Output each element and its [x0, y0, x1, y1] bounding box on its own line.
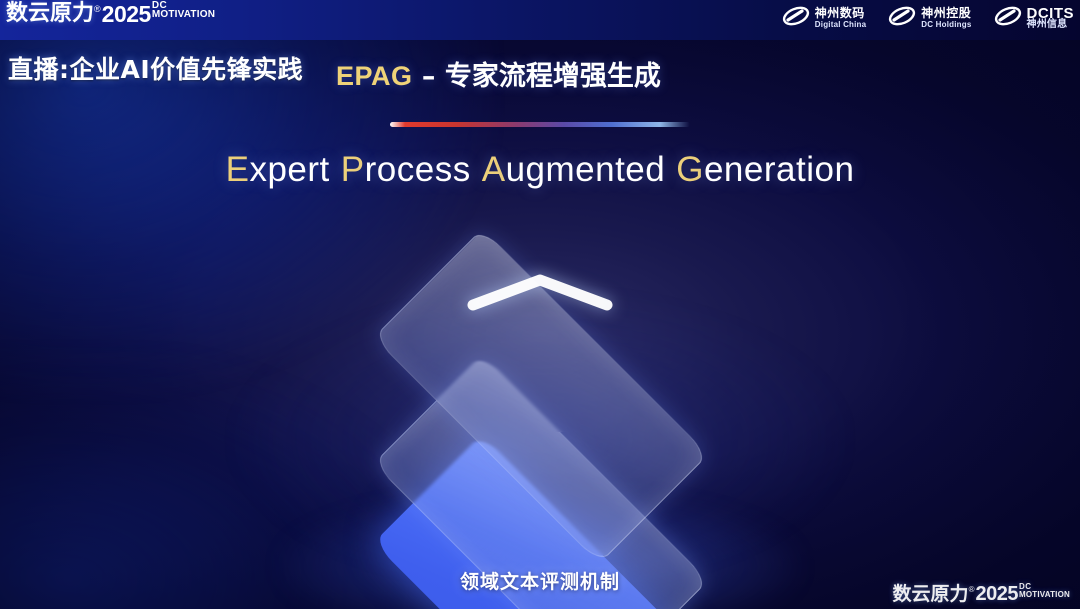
partner-logo-en: 神州信息 — [1027, 19, 1075, 30]
footer-watermark-logo: 数云原力 ® 2025 DC MOTIVATION — [893, 583, 1070, 605]
watermark-registered-mark: ® — [969, 585, 975, 595]
subtitle-cap-e: E — [226, 150, 250, 189]
event-logo-dc-line2: MOTIVATION — [152, 10, 215, 19]
watermark-cn: 数云原力 — [893, 583, 969, 605]
subtitle-word-generation: Generation — [676, 150, 854, 189]
subtitle-rest-generation: eneration — [704, 150, 854, 189]
page-title-chinese: 专家流程增强生成 — [445, 61, 661, 92]
partner-logo-en: DC Holdings — [921, 19, 971, 30]
partner-logo-dc-holdings: 神州控股 DC Holdings — [888, 5, 971, 32]
partner-logo-text: 神州控股 DC Holdings — [921, 8, 971, 30]
live-broadcast-caption: 直播:企业AI价值先锋实践 — [8, 50, 303, 86]
swirl-icon — [994, 5, 1022, 32]
subtitle-rest-process: rocess — [365, 150, 471, 189]
partner-logo-cn: DCITS — [1027, 8, 1075, 19]
page-title: EPAG – 专家流程增强生成 — [336, 54, 661, 93]
partner-logo-text: DCITS 神州信息 — [1027, 8, 1075, 30]
subtitle-rest-expert: xpert — [249, 150, 329, 189]
slide-canvas: 数云原力 ® 2025 DC MOTIVATION 神州数码 Digital C… — [0, 0, 1080, 609]
subtitle-word-expert: Expert — [226, 150, 330, 189]
watermark-dc-line2: MOTIVATION — [1019, 591, 1070, 599]
subtitle-cap-a: A — [482, 150, 506, 189]
partner-logo-en: Digital China — [815, 19, 867, 30]
top-brand-bar: 数云原力 ® 2025 DC MOTIVATION 神州数码 Digital C… — [0, 0, 1080, 40]
subtitle-rest-augmented: ugmented — [506, 150, 666, 189]
event-logo: 数云原力 ® 2025 DC MOTIVATION — [6, 1, 215, 27]
registered-mark: ® — [94, 3, 101, 15]
event-logo-dc: DC MOTIVATION — [152, 1, 215, 19]
subtitle-cap-g: G — [676, 150, 704, 189]
swirl-icon — [782, 5, 810, 32]
subtitle-word-augmented: Augmented — [482, 150, 666, 189]
watermark-dc: DC MOTIVATION — [1019, 583, 1070, 599]
partner-logo-cn: 神州数码 — [815, 8, 867, 19]
partner-logo-dcits: DCITS 神州信息 — [994, 5, 1075, 32]
partner-logo-cn: 神州控股 — [921, 8, 971, 19]
partner-logo-text: 神州数码 Digital China — [815, 8, 867, 30]
partner-logo-digital-china: 神州数码 Digital China — [782, 5, 867, 32]
event-logo-year: 2025 — [102, 1, 151, 27]
page-title-acronym: EPAG — [336, 61, 413, 91]
event-logo-cn: 数云原力 — [6, 1, 94, 27]
subtitle-word-process: Process — [341, 150, 471, 189]
page-subtitle: ExpertProcessAugmentedGeneration — [0, 150, 1080, 190]
stack-plate-top — [373, 228, 708, 563]
subtitle-cap-p: P — [341, 150, 365, 189]
watermark-year: 2025 — [975, 583, 1018, 605]
gradient-divider — [390, 122, 690, 127]
swirl-icon — [888, 5, 916, 32]
page-title-separator: – — [413, 61, 445, 92]
stack-layer-top — [310, 236, 770, 609]
layer-stack-diagram: 领域文本评测机制 Dynamic MOE 长文本记忆 三类语义建模模块 — [310, 236, 770, 556]
partner-logo-group: 神州数码 Digital China 神州控股 DC Holdings — [782, 5, 1074, 32]
